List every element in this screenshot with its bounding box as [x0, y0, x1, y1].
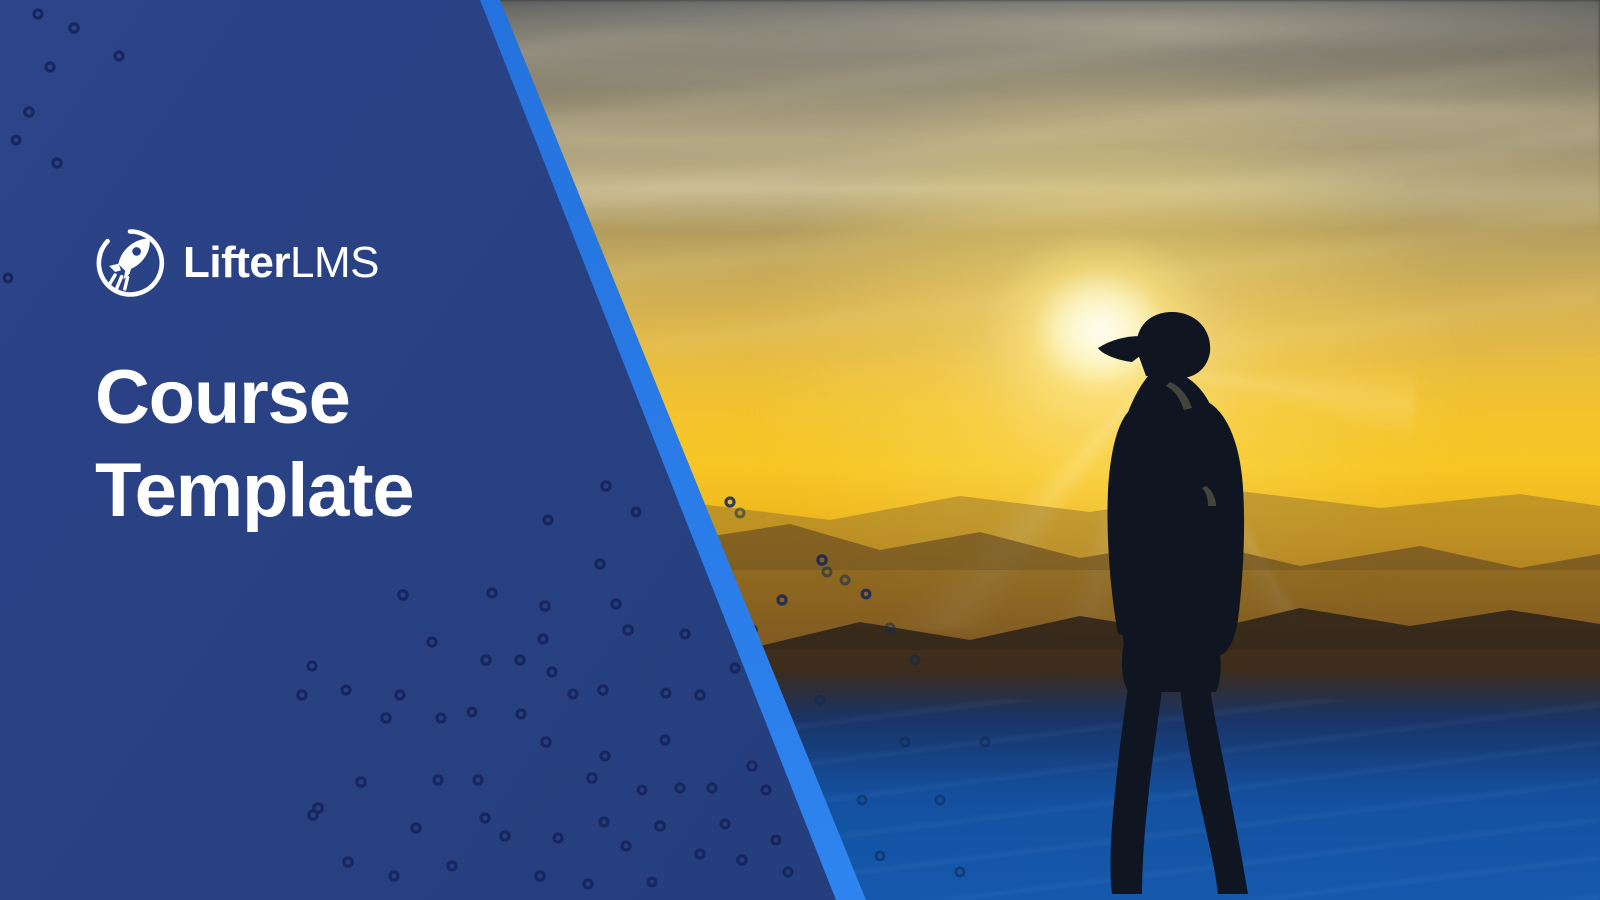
- brand-wordmark: LifterLMS: [183, 241, 379, 285]
- wordmark-lifter: Lifter: [183, 238, 290, 287]
- hiker-silhouette: [1020, 290, 1320, 900]
- headline-line-1: Course: [95, 352, 565, 445]
- brand-logo[interactable]: LifterLMS: [95, 228, 565, 298]
- wordmark-lms: LMS: [290, 238, 379, 287]
- page-title: Course Template: [95, 352, 565, 537]
- rocket-in-circle-icon: [95, 228, 165, 298]
- course-template-banner: LifterLMS Course Template: [0, 0, 1600, 900]
- headline-line-2: Template: [95, 445, 565, 538]
- banner-content: LifterLMS Course Template: [95, 228, 565, 537]
